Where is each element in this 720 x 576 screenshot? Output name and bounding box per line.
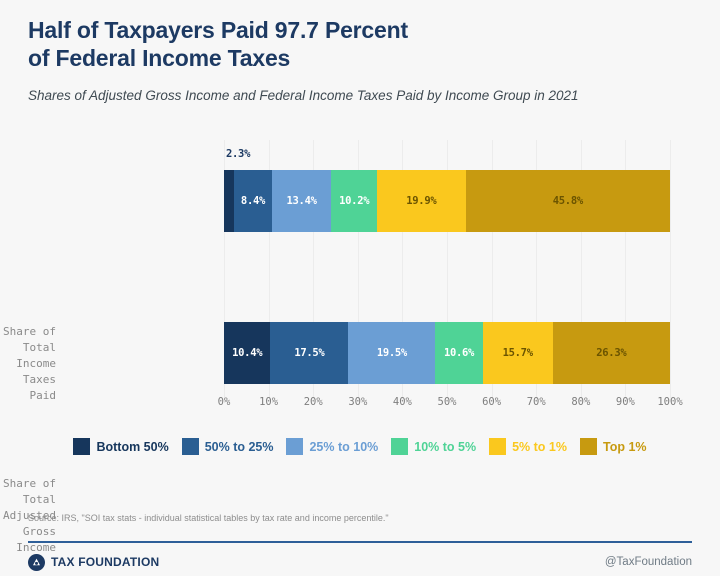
legend-label: 10% to 5% [414,440,476,454]
plot-area: 8.4%13.4%10.2%19.9%45.8% 10.4%17.5%19.5%… [224,140,670,402]
tax-foundation-logo-icon [28,554,45,571]
bar-segment-50pct-to-25pct: 17.5% [270,322,348,384]
x-tick-10%: 10% [259,396,278,408]
legend-swatch-icon [391,438,408,455]
stacked-bar-adjusted-gross-income: 10.4%17.5%19.5%10.6%15.7%26.3% [224,322,670,384]
chart-plot-wrapper: 2.3% Share of Total Income Taxes Paid Sh… [0,140,720,420]
bar-segment-top-1pct: 26.3% [553,322,670,384]
x-tick-60%: 60% [482,396,501,408]
legend-label: 5% to 1% [512,440,567,454]
legend-label: Bottom 50% [96,440,168,454]
x-tick-80%: 80% [571,396,590,408]
x-tick-70%: 70% [527,396,546,408]
legend-swatch-icon [182,438,199,455]
page-title: Half of Taxpayers Paid 97.7 Percent of F… [28,16,692,72]
x-tick-90%: 90% [616,396,635,408]
bar-segment-25pct-to-10pct: 13.4% [272,170,332,232]
social-handle: @TaxFoundation [605,556,692,568]
x-tick-20%: 20% [304,396,323,408]
bar-segment-5pct-to-1pct: 19.9% [377,170,466,232]
legend-swatch-icon [286,438,303,455]
bar-segment-10pct-to-5pct: 10.6% [435,322,482,384]
chart-header: Half of Taxpayers Paid 97.7 Percent of F… [28,16,692,105]
x-tick-30%: 30% [348,396,367,408]
bar-segment-5pct-to-1pct: 15.7% [483,322,553,384]
legend-label: 25% to 10% [309,440,378,454]
source-note: Source: IRS, "SOI tax stats - individual… [28,513,389,523]
bar-segment-bottom-50pct: 10.4% [224,322,270,384]
brand-name: TAX FOUNDATION [51,555,159,569]
bar-segment-bottom-50pct [224,170,234,232]
legend-swatch-icon [489,438,506,455]
legend-swatch-icon [580,438,597,455]
legend-label: Top 1% [603,440,647,454]
bar-segment-top-1pct: 45.8% [466,170,670,232]
x-tick-40%: 40% [393,396,412,408]
chart-legend: Bottom 50%50% to 25%25% to 10%10% to 5%5… [0,438,720,455]
legend-label: 50% to 25% [205,440,274,454]
chart-subtitle: Shares of Adjusted Gross Income and Fede… [28,86,668,105]
x-tick-50%: 50% [438,396,457,408]
x-axis-tick-labels: 0%10%20%30%40%50%60%70%80%90%100% [224,396,670,416]
bar-segment-50pct-to-25pct: 8.4% [234,170,271,232]
legend-item-50pct-to-25pct[interactable]: 50% to 25% [182,438,274,455]
category-label-income-taxes-paid: Share of Total Income Taxes Paid [0,324,56,404]
legend-item-5pct-to-1pct[interactable]: 5% to 1% [489,438,567,455]
gridline-100% [670,140,671,402]
legend-swatch-icon [73,438,90,455]
bar-segment-10pct-to-5pct: 10.2% [331,170,376,232]
stacked-bar-income-taxes-paid: 8.4%13.4%10.2%19.9%45.8% [224,170,670,232]
legend-item-10pct-to-5pct[interactable]: 10% to 5% [391,438,476,455]
chart-page: Half of Taxpayers Paid 97.7 Percent of F… [0,0,720,576]
brand-logo: TAX FOUNDATION [28,554,159,571]
title-line-1: Half of Taxpayers Paid 97.7 Percent [28,17,408,43]
title-line-2: of Federal Income Taxes [28,45,290,71]
x-tick-0%: 0% [218,396,231,408]
x-tick-100%: 100% [657,396,682,408]
legend-item-bottom-50pct[interactable]: Bottom 50% [73,438,168,455]
chart-footer: TAX FOUNDATION @TaxFoundation [28,549,692,575]
footer-divider [28,541,692,543]
legend-item-top-1pct[interactable]: Top 1% [580,438,647,455]
legend-item-25pct-to-10pct[interactable]: 25% to 10% [286,438,378,455]
bar-segment-25pct-to-10pct: 19.5% [348,322,435,384]
